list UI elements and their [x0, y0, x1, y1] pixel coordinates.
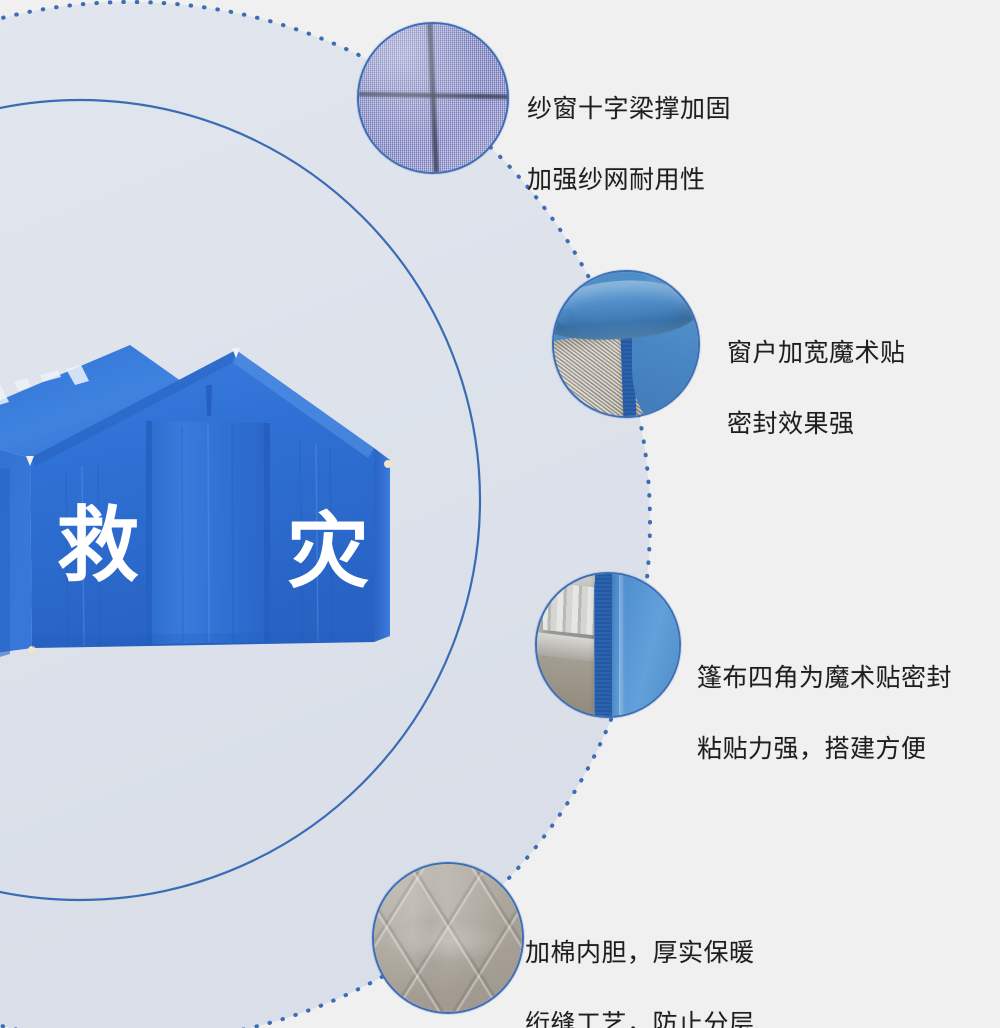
quilt-wrinkle-shading	[374, 864, 522, 1012]
feature-caption-line2: 粘贴力强，搭建方便	[697, 732, 952, 768]
tarp-fold-highlight	[619, 572, 625, 718]
hero-tent-photo: 救 灾	[0, 290, 440, 680]
feature-caption-line1: 窗户加宽魔术贴	[727, 336, 906, 372]
feature-image-tarp-corner	[535, 572, 681, 718]
feature-caption-line2: 加强纱网耐用性	[527, 163, 731, 199]
feature-image-cotton-liner	[372, 862, 524, 1014]
feature-caption-window-velcro: 窗户加宽魔术贴 密封效果强	[727, 300, 906, 478]
corner-velcro-strip-icon	[595, 572, 612, 718]
feature-caption-cotton-liner: 加棉内胆，厚实保暖 绗缝工艺，防止分层	[525, 900, 755, 1028]
feature-image-window-velcro	[552, 270, 700, 418]
feature-caption-window-screen: 纱窗十字梁撑加固 加强纱网耐用性	[527, 56, 731, 234]
feature-caption-line2: 绗缝工艺，防止分层	[525, 1007, 755, 1028]
svg-text:灾: 灾	[287, 507, 369, 598]
feature-image-window-screen	[357, 22, 509, 174]
feature-caption-line1: 篷布四角为魔术贴密封	[697, 661, 952, 697]
feature-caption-line1: 加棉内胆，厚实保暖	[525, 936, 755, 972]
svg-text:救: 救	[57, 501, 139, 592]
feature-caption-tarp-corner: 篷布四角为魔术贴密封 粘贴力强，搭建方便	[697, 625, 952, 803]
mesh-sheen	[359, 24, 507, 172]
product-feature-infographic: 救 灾 纱窗十字梁撑加固 加强纱网耐用性 窗户加宽魔术贴 密封效果强	[0, 0, 1000, 1028]
feature-caption-line2: 密封效果强	[727, 407, 906, 443]
feature-caption-line1: 纱窗十字梁撑加固	[527, 92, 731, 128]
